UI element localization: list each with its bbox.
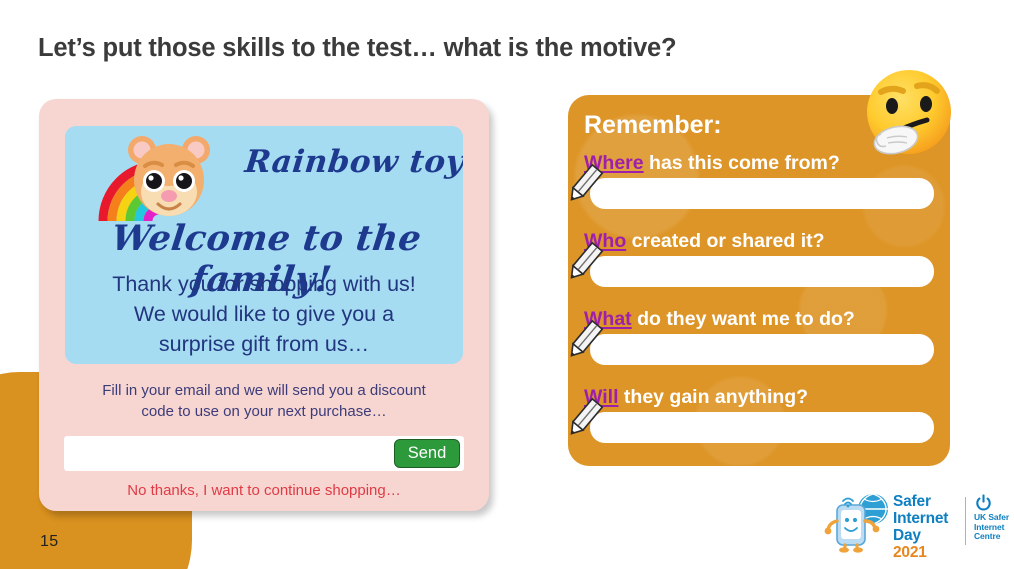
answer-input-what[interactable] (590, 334, 934, 365)
uk-safer-internet-centre-block: UK Safer Internet Centre (974, 494, 1014, 542)
capture-line-1: Fill in your email and we will send you … (61, 380, 467, 401)
brand-logo-row: Rainbow toys (65, 126, 463, 222)
question-label-will: Will they gain anything? (584, 386, 808, 409)
answer-input-where[interactable] (590, 178, 934, 209)
remember-heading: Remember: (584, 111, 722, 140)
question-label-what: What do they want me to do? (584, 308, 855, 331)
sid-year: 2021 (893, 544, 927, 561)
sid-centre-text: UK Safer Internet Centre (974, 513, 1014, 542)
popup-banner: Rainbow toys Welcome to the family! Than… (65, 126, 463, 364)
slide-canvas: 15 Let’s put those skills to the test… w… (0, 0, 1014, 569)
popup-body-line-3: surprise gift from us… (65, 329, 463, 359)
decline-link[interactable]: No thanks, I want to continue shopping… (39, 482, 489, 499)
thinking-face-emoji (857, 62, 961, 166)
pencil-icon (563, 318, 605, 362)
pencil-icon (563, 396, 605, 440)
popup-body-line-1: Thank you for shopping with us! (65, 269, 463, 299)
answer-input-will[interactable] (590, 412, 934, 443)
send-button[interactable]: Send (394, 439, 460, 468)
phishing-popup-card: Rainbow toys Welcome to the family! Than… (39, 99, 489, 511)
sid-line-1: Safer (893, 493, 959, 510)
page-title: Let’s put those skills to the test… what… (38, 34, 676, 63)
capture-line-2: code to use on your next purchase… (61, 401, 467, 422)
sid-day-word: Day (893, 527, 959, 544)
page-number: 15 (40, 533, 58, 551)
email-input-row[interactable]: Send (64, 436, 464, 471)
pencil-icon (563, 240, 605, 284)
question-rest: they gain anything? (619, 386, 809, 408)
sid-wordmark: Safer Internet Day 2021 (893, 493, 959, 561)
centre-line-3: Centre (974, 532, 1014, 542)
sid-line-2: Internet (893, 510, 959, 527)
question-label-who: Who created or shared it? (584, 230, 825, 253)
popup-body-text: Thank you for shopping with us! We would… (65, 269, 463, 359)
question-rest: created or shared it? (626, 230, 824, 252)
popup-body-line-2: We would like to give you a (65, 299, 463, 329)
question-label-where: Where has this come from? (584, 152, 840, 175)
sid-line-3: Day 2021 (893, 527, 959, 561)
safer-internet-day-logo: Safer Internet Day 2021 UK Safer Interne… (823, 489, 1001, 555)
email-capture-text: Fill in your email and we will send you … (61, 380, 467, 422)
power-icon (975, 494, 992, 511)
answer-input-who[interactable] (590, 256, 934, 287)
phone-mascot-globe-icon (823, 491, 895, 553)
question-rest: do they want me to do? (632, 308, 855, 330)
question-rest: has this come from? (644, 152, 840, 174)
logo-divider (965, 497, 966, 545)
pencil-icon (563, 162, 605, 206)
brand-name: Rainbow toys (243, 144, 463, 180)
hamster-face-icon (125, 130, 213, 222)
